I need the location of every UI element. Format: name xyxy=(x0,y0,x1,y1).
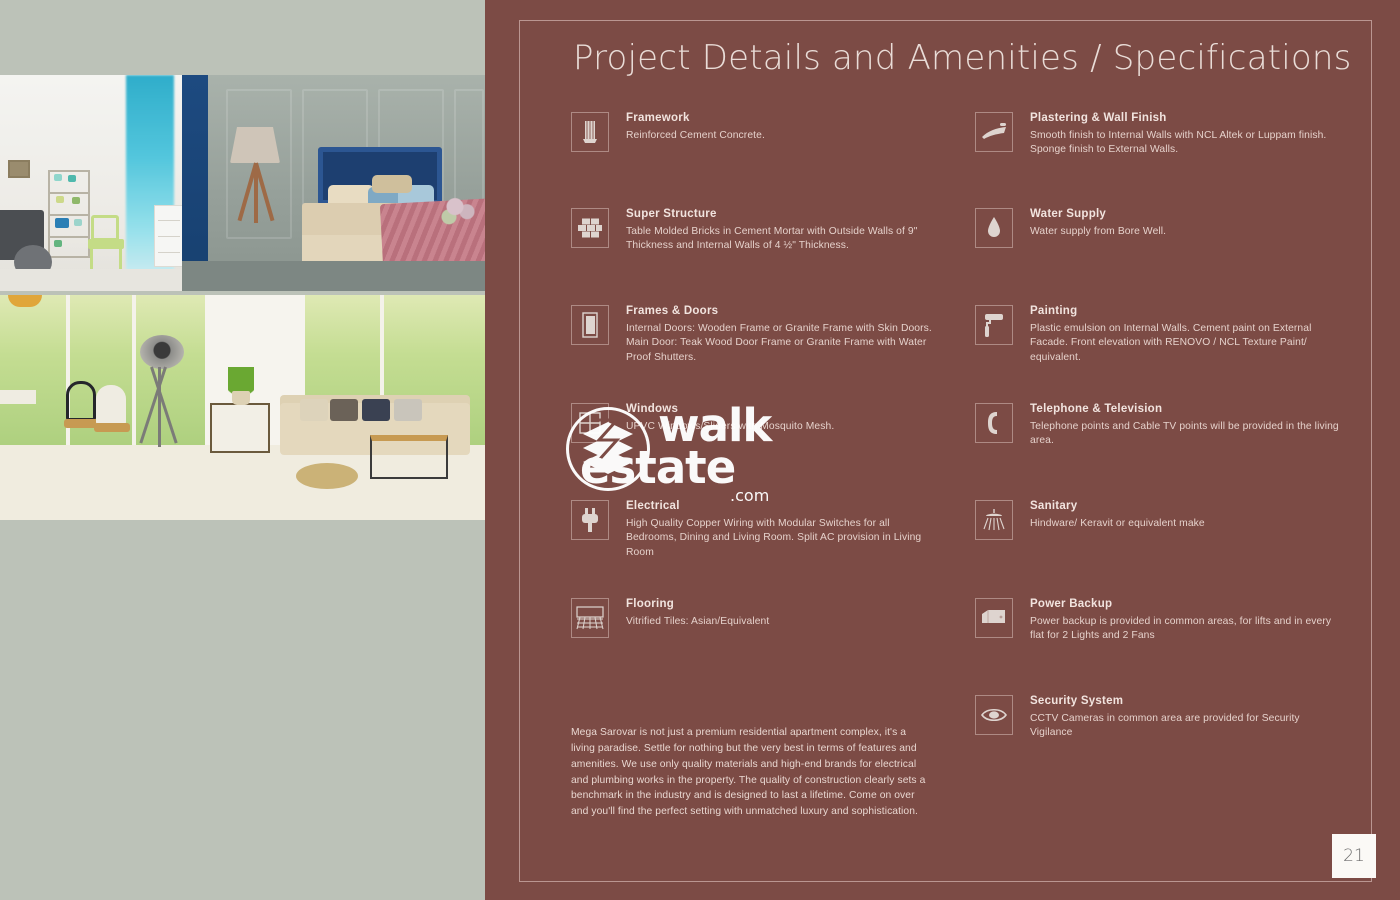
nursery-room-photo xyxy=(0,75,182,291)
spec-item-windows: Windows UPVC Windows/Sliders with Mosqui… xyxy=(571,403,941,500)
cushion xyxy=(300,399,328,421)
spec-item-framework: Framework Reinforced Cement Concrete. xyxy=(571,112,941,208)
generator-icon xyxy=(975,598,1013,638)
spec-description: Vitrified Tiles: Asian/Equivalent xyxy=(626,615,941,630)
bricks-icon xyxy=(571,208,609,248)
spec-item-electrical: Electrical High Quality Copper Wiring wi… xyxy=(571,500,941,598)
telephone-icon xyxy=(975,403,1013,443)
living-room-photo xyxy=(0,295,485,520)
flower-vase xyxy=(439,193,479,227)
cushion xyxy=(394,399,422,421)
water-drop-icon xyxy=(975,208,1013,248)
trowel-icon xyxy=(975,112,1013,152)
white-cabinet xyxy=(154,205,182,267)
electric-plug-icon xyxy=(571,500,609,540)
floor-tiles-icon xyxy=(571,598,609,638)
spec-item-painting: Painting Plastic emulsion on Internal Wa… xyxy=(975,305,1345,403)
spec-title: Plastering & Wall Finish xyxy=(1030,112,1345,125)
spec-description: Plastic emulsion on Internal Walls. Ceme… xyxy=(1030,322,1345,366)
spec-description: Power backup is provided in common areas… xyxy=(1030,615,1345,644)
spec-column-left: Framework Reinforced Cement Concrete. Su… xyxy=(571,112,941,638)
wall-art xyxy=(8,160,30,178)
wall-panel xyxy=(226,89,292,239)
bedroom-photo xyxy=(182,75,485,291)
page-title: Project Details and Amenities / Specific… xyxy=(573,38,1352,78)
coffee-table xyxy=(370,435,448,479)
console-table xyxy=(210,403,270,453)
spec-title: Framework xyxy=(626,112,941,125)
shower-icon xyxy=(975,500,1013,540)
pillow xyxy=(372,175,412,193)
cushion xyxy=(330,399,358,421)
floor-lamp-shade xyxy=(230,127,280,163)
spec-item-super-structure: Super Structure Table Molded Bricks in C… xyxy=(571,208,941,305)
spec-description: CCTV Cameras in common area are provided… xyxy=(1030,712,1345,741)
spec-title: Flooring xyxy=(626,598,941,611)
spec-description: Hindware/ Keravit or equivalent make xyxy=(1030,517,1345,532)
spec-item-flooring: Flooring Vitrified Tiles: Asian/Equivale… xyxy=(571,598,941,638)
spec-title: Telephone & Television xyxy=(1030,403,1345,416)
spec-description: Reinforced Cement Concrete. xyxy=(626,129,941,144)
spec-description: Smooth finish to Internal Walls with NCL… xyxy=(1030,129,1345,158)
spec-description: Internal Doors: Wooden Frame or Granite … xyxy=(626,322,941,366)
spec-description: High Quality Copper Wiring with Modular … xyxy=(626,517,941,561)
spec-column-right: Plastering & Wall Finish Smooth finish t… xyxy=(975,112,1345,741)
green-chair xyxy=(88,215,124,273)
spec-description: Telephone points and Cable TV points wil… xyxy=(1030,420,1345,449)
photo-collage-panel xyxy=(0,0,485,900)
building-column-icon xyxy=(571,112,609,152)
spec-item-power-backup: Power Backup Power backup is provided in… xyxy=(975,598,1345,695)
cctv-eye-icon xyxy=(975,695,1013,735)
window-icon xyxy=(571,403,609,443)
spec-title: Security System xyxy=(1030,695,1345,708)
cushion xyxy=(362,399,390,421)
studio-lamp-head xyxy=(140,335,184,369)
spec-item-sanitary: Sanitary Hindware/ Keravit or equivalent… xyxy=(975,500,1345,598)
door-icon xyxy=(571,305,609,345)
spec-title: Windows xyxy=(626,403,941,416)
spec-title: Painting xyxy=(1030,305,1345,318)
spec-item-security-system: Security System CCTV Cameras in common a… xyxy=(975,695,1345,741)
spec-item-water-supply: Water Supply Water supply from Bore Well… xyxy=(975,208,1345,305)
spec-item-telephone-television: Telephone & Television Telephone points … xyxy=(975,403,1345,500)
ottoman xyxy=(296,463,358,489)
lamp-leg xyxy=(254,163,258,223)
blue-wall-strip xyxy=(182,75,208,291)
spec-title: Power Backup xyxy=(1030,598,1345,611)
specifications-panel: Project Details and Amenities / Specific… xyxy=(485,0,1400,900)
project-blurb: Mega Sarovar is not just a premium resid… xyxy=(571,725,931,820)
spec-description: Water supply from Bore Well. xyxy=(1030,225,1345,240)
shelf-unit xyxy=(48,170,90,258)
dining-chair-dark xyxy=(66,381,100,451)
spec-title: Sanitary xyxy=(1030,500,1345,513)
spec-item-plastering: Plastering & Wall Finish Smooth finish t… xyxy=(975,112,1345,208)
kitchen-counter xyxy=(0,390,36,404)
spec-title: Water Supply xyxy=(1030,208,1345,221)
spec-title: Frames & Doors xyxy=(626,305,941,318)
spec-title: Electrical xyxy=(626,500,941,513)
spec-description: Table Molded Bricks in Cement Mortar wit… xyxy=(626,225,941,254)
plant-pot xyxy=(232,391,250,405)
paint-roller-icon xyxy=(975,305,1013,345)
spec-description: UPVC Windows/Sliders with Mosquito Mesh. xyxy=(626,420,941,435)
floor-surface xyxy=(182,261,485,291)
floor-surface xyxy=(0,269,182,291)
spec-title: Super Structure xyxy=(626,208,941,221)
spec-item-frames-doors: Frames & Doors Internal Doors: Wooden Fr… xyxy=(571,305,941,403)
page-number-badge: 21 xyxy=(1332,834,1376,878)
dining-chair-white xyxy=(96,385,130,455)
